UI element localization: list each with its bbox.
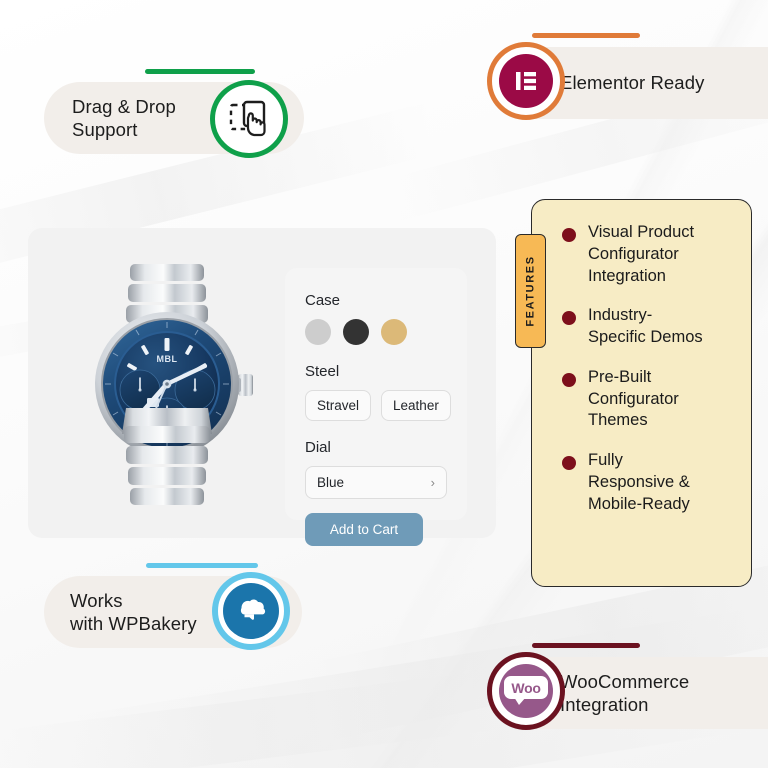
woo-bubble-text: Woo	[504, 676, 548, 699]
watch-illustration: MBL	[42, 238, 292, 530]
case-swatch-group	[305, 319, 447, 345]
case-label: Case	[305, 292, 447, 309]
svg-text:MBL: MBL	[157, 354, 178, 364]
wpbakery-connector-line	[146, 563, 258, 568]
elementor-glyph	[511, 66, 541, 96]
features-tab-label: FEATURES	[525, 255, 537, 326]
woocommerce-logo-icon: Woo	[487, 652, 565, 730]
dial-select[interactable]: Blue ›	[305, 466, 447, 499]
feature-item-label: Pre-Built Configurator Themes	[588, 367, 679, 432]
feature-item: Pre-Built Configurator Themes	[562, 367, 735, 432]
elementor-connector-line	[532, 33, 640, 38]
product-configurator-panel: Case Steel Stravel Leather Dial Blue › A…	[285, 268, 467, 520]
wpbakery-disc	[223, 583, 279, 639]
elementor-logo-icon	[487, 42, 565, 120]
features-panel: Visual Product Configurator Integration …	[531, 199, 752, 587]
woocommerce-connector-line	[532, 643, 640, 648]
case-swatch-gold[interactable]	[381, 319, 407, 345]
woo-bubble: Woo	[504, 676, 548, 706]
watch-product-image: MBL	[42, 238, 292, 530]
steel-label: Steel	[305, 363, 447, 380]
feature-item-label: Visual Product Configurator Integration	[588, 222, 694, 287]
case-swatch-silver[interactable]	[305, 319, 331, 345]
chevron-right-icon: ›	[431, 475, 435, 490]
wpbakery-logo-icon	[212, 572, 290, 650]
drag-drop-glyph	[225, 95, 273, 143]
dial-label: Dial	[305, 439, 447, 456]
wpbakery-glyph	[232, 594, 270, 628]
drag-drop-connector-line	[145, 69, 255, 74]
badge-drag-drop-label: Drag & Drop Support	[72, 95, 176, 142]
bullet-dot-icon	[562, 228, 576, 242]
bullet-dot-icon	[562, 311, 576, 325]
elementor-disc	[499, 54, 553, 108]
steel-option-stravel[interactable]: Stravel	[305, 390, 371, 421]
badge-wpbakery-label: Works with WPBakery	[70, 589, 197, 636]
infographic-canvas: Drag & Drop Support Elementor Ready	[0, 0, 768, 768]
feature-item: Industry- Specific Demos	[562, 305, 735, 349]
dial-select-value: Blue	[317, 475, 344, 490]
add-to-cart-button[interactable]: Add to Cart	[305, 513, 423, 546]
badge-woocommerce-label: WooCommerce Integration	[560, 670, 689, 717]
steel-option-group: Stravel Leather	[305, 390, 447, 421]
feature-item: Visual Product Configurator Integration	[562, 222, 735, 287]
feature-item-label: Industry- Specific Demos	[588, 305, 703, 349]
bullet-dot-icon	[562, 373, 576, 387]
case-swatch-charcoal[interactable]	[343, 319, 369, 345]
badge-elementor-label: Elementor Ready	[560, 71, 704, 94]
feature-item-label: Fully Responsive & Mobile-Ready	[588, 450, 690, 515]
features-tab: FEATURES	[515, 234, 546, 348]
feature-item: Fully Responsive & Mobile-Ready	[562, 450, 735, 515]
steel-option-leather[interactable]: Leather	[381, 390, 451, 421]
drag-drop-icon	[210, 80, 288, 158]
bullet-dot-icon	[562, 456, 576, 470]
background-streak	[0, 670, 502, 768]
woocommerce-disc: Woo	[499, 664, 553, 718]
